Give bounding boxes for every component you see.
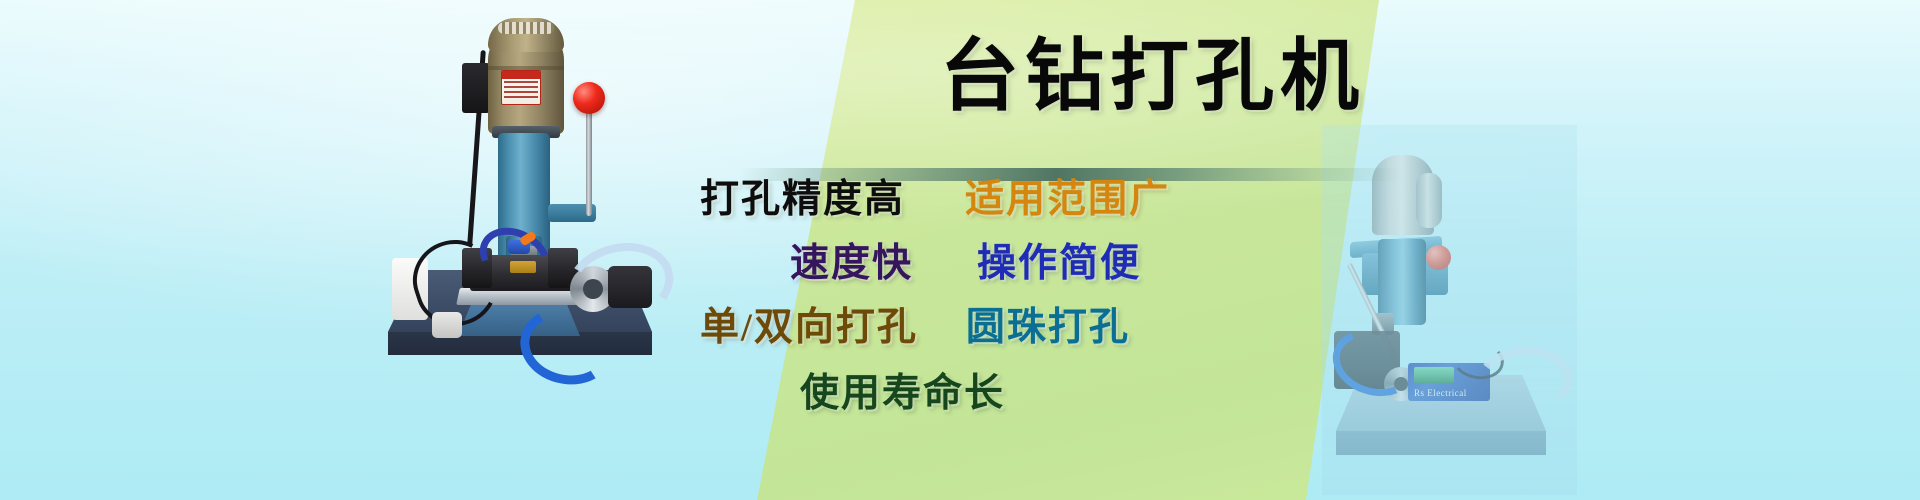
accessory-box-label: Rs Electrical: [1414, 388, 1467, 398]
feature-item-operation: 操作简便: [977, 244, 1141, 283]
power-plug: [432, 312, 462, 338]
junction-box: [462, 63, 490, 113]
motor-vents: [498, 22, 554, 34]
feature-item-lifespan: 使用寿命长: [800, 374, 1005, 413]
label-text-lines: [504, 81, 538, 99]
feed-lever-rod: [586, 98, 592, 216]
motor-spec-label: [501, 70, 541, 105]
feature-row-2: 速度快 操作简便: [790, 244, 1141, 283]
feature-item-application: 适用范围广: [965, 180, 1170, 219]
feature-item-direction: 单/双向打孔: [700, 308, 918, 347]
feature-item-accuracy: 打孔精度高: [700, 180, 905, 219]
feature-row-3: 单/双向打孔 圆珠打孔: [700, 308, 1130, 347]
label-header-band: [502, 71, 540, 79]
feature-row-4: 使用寿命长: [800, 374, 1005, 413]
page-title: 台钻打孔机: [940, 38, 1365, 117]
product-banner: Rs Electrical 台钻打孔机 打孔精度高 适用范围广 速度快 操作简便…: [0, 0, 1920, 500]
feature-item-speed: 速度快: [790, 244, 913, 283]
lever-knob-red: [573, 82, 605, 114]
capacitor-small: [1416, 173, 1442, 228]
accessory-box-artwork: [1414, 367, 1454, 383]
product-image-left: [370, 8, 670, 368]
feature-item-ball-drilling: 圆珠打孔: [966, 308, 1130, 347]
feature-row-1: 打孔精度高 适用范围广: [700, 180, 1170, 219]
feature-list: 打孔精度高 适用范围广 速度快 操作简便 单/双向打孔 圆珠打孔 使用寿命长: [700, 172, 1400, 462]
lever-knob-small: [1426, 245, 1451, 270]
